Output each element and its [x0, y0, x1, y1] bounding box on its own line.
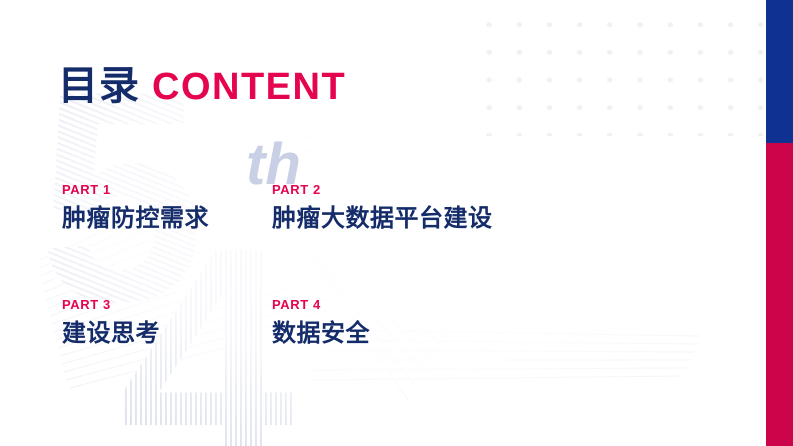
dot-grid-decoration	[470, 6, 766, 136]
agenda-item-part-3[interactable]: PART 3 建设思考	[62, 298, 160, 348]
part-title-3: 建设思考	[62, 320, 160, 348]
part-title-4: 数据安全	[272, 320, 370, 348]
edge-bar-blue	[766, 0, 793, 143]
page-title: 目录 CONTENT	[58, 66, 346, 106]
edge-bar-crimson	[766, 143, 793, 446]
agenda-item-part-2[interactable]: PART 2 肿瘤大数据平台建设	[272, 183, 493, 233]
page-title-chinese: 目录	[58, 66, 140, 106]
content-slide: 5 4	[0, 0, 793, 446]
agenda-item-part-4[interactable]: PART 4 数据安全	[272, 298, 370, 348]
agenda-item-part-1[interactable]: PART 1 肿瘤防控需求	[62, 183, 209, 233]
part-title-2: 肿瘤大数据平台建设	[272, 205, 493, 233]
part-label-2: PART 2	[272, 183, 493, 196]
part-label-4: PART 4	[272, 298, 370, 311]
part-title-1: 肿瘤防控需求	[62, 205, 209, 233]
part-label-1: PART 1	[62, 183, 209, 196]
page-title-english: CONTENT	[152, 68, 346, 106]
part-label-3: PART 3	[62, 298, 160, 311]
